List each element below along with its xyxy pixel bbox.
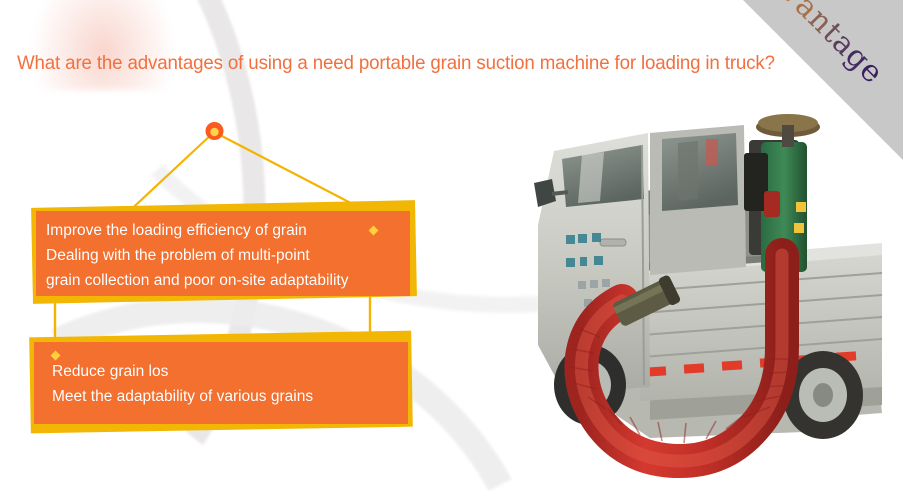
machine-yellow-marker-1	[796, 202, 806, 212]
box-2-text: Reduce grain los Meet the adaptability o…	[52, 359, 313, 409]
box-1-line-1: Improve the loading efficiency of grain	[46, 218, 348, 243]
machine-yellow-marker-2	[794, 223, 804, 233]
cab-window-divider	[678, 141, 698, 201]
box-2-line-1: Reduce grain los	[52, 359, 313, 384]
machine-red-label	[764, 191, 780, 217]
box-1-line-2: Dealing with the problem of multi-point	[46, 243, 348, 268]
door-window-highlight	[578, 152, 604, 203]
product-photo	[530, 95, 903, 491]
cab-interior-detail	[706, 139, 718, 165]
box-1-line-3: grain collection and poor on-site adapta…	[46, 268, 348, 293]
diagram-root-node-core	[210, 128, 218, 136]
cab-rear-window	[662, 133, 738, 211]
slide-canvas: advantage What are the advantages of usi…	[0, 0, 903, 491]
box-2-line-2: Meet the adaptability of various grains	[52, 384, 313, 409]
connector-line-right	[216, 133, 368, 212]
box-1-text: Improve the loading efficiency of grain …	[46, 218, 348, 293]
door-handle	[600, 239, 626, 246]
machine-shaft	[782, 125, 794, 147]
